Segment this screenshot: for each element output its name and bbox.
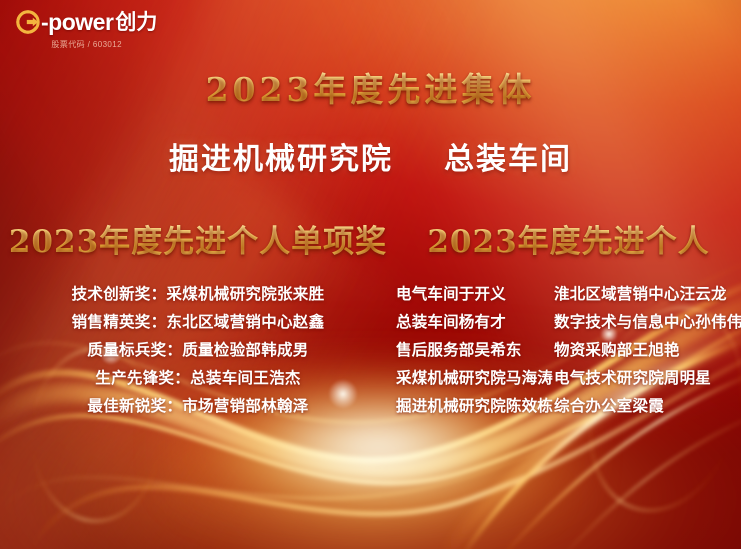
winner-name: 售后服务部吴希东 [396,342,554,358]
logo-row: -power 创力 [16,10,157,34]
c-power-logo-icon [16,10,40,34]
special-awards-list: 技术创新奖：采煤机械研究院张来胜 销售精英奖：东北区域营销中心赵鑫 质量标兵奖：… [0,286,396,426]
collective-winner-1: 掘进机械研究院 [169,142,393,177]
page-title-collective: 2023年度先进集体 [0,63,741,111]
list-item: 售后服务部吴希东 物资采购部王旭艳 [396,342,741,358]
winner-name: 掘进机械研究院陈效栋 [396,398,554,414]
list-item: 生产先锋奖：总装车间王浩杰 [95,370,300,386]
list-item: 掘进机械研究院陈效栋 综合办公室梁霞 [396,398,741,414]
winner-columns: 技术创新奖：采煤机械研究院张来胜 销售精英奖：东北区域营销中心赵鑫 质量标兵奖：… [0,286,741,426]
list-item: 质量标兵奖：质量检验部韩成男 [87,342,308,358]
individual-awards-list: 电气车间于开义 淮北区域营销中心汪云龙 总装车间杨有才 数字技术与信息中心孙伟伟… [396,286,741,426]
section-headings: 2023年度先进个人单项奖 2023年度先进个人 [0,216,741,261]
list-item: 技术创新奖：采煤机械研究院张来胜 [72,286,325,302]
logo-wordmark-cn: 创力 [115,12,157,33]
winner-name: 电气技术研究院周明星 [554,370,734,386]
list-item: 电气车间于开义 淮北区域营销中心汪云龙 [396,286,741,302]
winner-name: 综合办公室梁霞 [554,398,734,414]
company-logo: -power 创力 股票代码 / 603012 [16,10,157,50]
winner-name: 物资采购部王旭艳 [554,342,734,358]
winner-name: 采煤机械研究院马海涛 [396,370,554,386]
list-item: 采煤机械研究院马海涛 电气技术研究院周明星 [396,370,741,386]
list-item: 最佳新锐奖：市场营销部林翰泽 [87,398,308,414]
list-item: 销售精英奖：东北区域营销中心赵鑫 [72,314,325,330]
winner-name: 总装车间杨有才 [396,314,554,330]
heading-individual-special: 2023年度先进个人单项奖 [0,216,396,261]
collective-winners: 掘进机械研究院 总装车间 [0,134,741,178]
logo-wordmark: -power [41,11,113,34]
heading-individual: 2023年度先进个人 [396,216,741,261]
winner-name: 电气车间于开义 [396,286,554,302]
stock-code-label: 股票代码 / 603012 [51,39,122,50]
collective-winner-2: 总装车间 [444,142,572,177]
award-poster: -power 创力 股票代码 / 603012 2023年度先进集体 掘进机械研… [0,0,741,549]
winner-name: 淮北区域营销中心汪云龙 [554,286,734,302]
list-item: 总装车间杨有才 数字技术与信息中心孙伟伟 [396,314,741,330]
winner-name: 数字技术与信息中心孙伟伟 [554,314,734,330]
